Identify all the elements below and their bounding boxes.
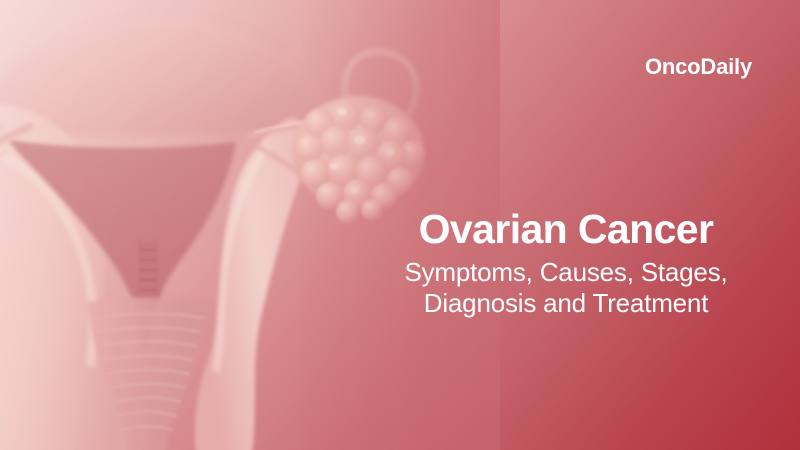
left-fallopian-tube [0,126,30,168]
subtitle-line-2: Diagnosis and Treatment [370,288,762,318]
cervical-plicae [140,250,157,290]
page-title: Ovarian Cancer [370,208,762,251]
vaginal-rugae [94,314,204,431]
endometrial-cavity [8,140,236,348]
vaginal-canal [86,298,210,450]
subtitle-line-1: Symptoms, Causes, Stages, [370,257,762,287]
banner-root: OncoDaily Ovarian Cancer Symptoms, Cause… [0,0,800,450]
right-fallopian-tube [250,52,416,136]
ovarian-tumor-mass [292,96,425,224]
cervical-canal [138,238,160,309]
oncodaily-logo[interactable]: OncoDaily [645,56,752,78]
right-tube-highlight [256,121,332,132]
tumor-specular-highlights [329,109,395,194]
myometrium-highlight-right [216,146,268,372]
ovarian-ligament [246,140,304,176]
page-subtitle: Symptoms, Causes, Stages, Diagnosis and … [370,257,762,318]
left-fimbriae [0,126,4,186]
title-block: Ovarian Cancer Symptoms, Causes, Stages,… [370,208,762,318]
uterus-body [0,104,148,450]
myometrium-highlight-left [0,150,93,366]
uterus-body-right [195,118,314,450]
uterine-fundus [0,18,319,138]
